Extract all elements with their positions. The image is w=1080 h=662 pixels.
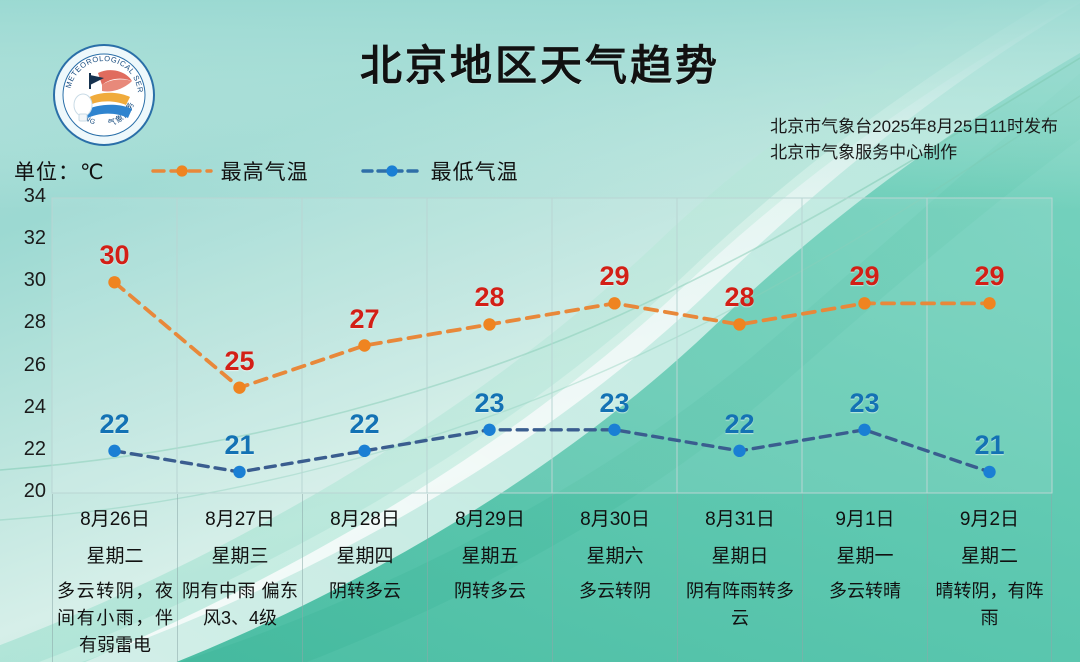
table-weekday-3: 星期五 [428,541,552,568]
table-description-1: 阴有中雨 偏东风3、4级 [182,578,298,632]
forecast-table: 8月26日星期二多云转阴，夜间有小雨，伴有弱雷电8月27日星期三阴有中雨 偏东风… [52,494,1052,662]
legend-swatch-high-icon [151,163,213,179]
table-column-5: 8月31日星期日阴有阵雨转多云 [677,494,802,662]
table-date-2: 8月28日 [303,504,427,531]
table-column-7: 9月2日星期二晴转阴，有阵雨 [927,494,1052,662]
table-date-0: 8月26日 [53,504,177,531]
table-weekday-4: 星期六 [553,541,677,568]
issuer-info: 北京市气象台2025年8月25日11时发布 北京市气象服务中心制作 [770,114,1058,166]
table-weekday-1: 星期三 [178,541,302,568]
table-date-7: 9月2日 [928,504,1051,531]
table-weekday-0: 星期二 [53,541,177,568]
table-column-1: 8月27日星期三阴有中雨 偏东风3、4级 [177,494,302,662]
table-column-6: 9月1日星期一多云转晴 [802,494,927,662]
table-column-4: 8月30日星期六多云转阴 [552,494,677,662]
legend-swatch-low-icon [361,163,423,179]
table-weekday-6: 星期一 [803,541,927,568]
table-weekday-7: 星期二 [928,541,1051,568]
issuer-line-1: 北京市气象台2025年8月25日11时发布 [770,114,1058,140]
legend-label-high: 最高气温 [221,156,309,186]
table-description-6: 多云转晴 [807,578,923,605]
table-description-7: 晴转阴，有阵雨 [932,578,1047,632]
legend-label-low: 最低气温 [431,156,519,186]
table-description-5: 阴有阵雨转多云 [682,578,798,632]
legend-item-high: 最高气温 [151,156,309,186]
table-date-3: 8月29日 [428,504,552,531]
table-description-3: 阴转多云 [432,578,548,605]
table-date-4: 8月30日 [553,504,677,531]
table-date-5: 8月31日 [678,504,802,531]
unit-and-legend-row: 单位：℃ 最高气温 最低气温 [14,156,571,186]
table-description-2: 阴转多云 [307,578,423,605]
unit-label: 单位：℃ [14,156,105,186]
weather-trend-poster: METEOROLOGICAL SERVICE BEIJING 气象服务 北京地区… [0,0,1080,662]
table-description-0: 多云转阴，夜间有小雨，伴有弱雷电 [57,578,173,659]
legend-item-low: 最低气温 [361,156,519,186]
issuer-line-2: 北京市气象服务中心制作 [770,140,1058,166]
table-column-2: 8月28日星期四阴转多云 [302,494,427,662]
table-column-0: 8月26日星期二多云转阴，夜间有小雨，伴有弱雷电 [52,494,177,662]
table-description-4: 多云转阴 [557,578,673,605]
table-date-6: 9月1日 [803,504,927,531]
page-title: 北京地区天气趋势 [0,32,1080,93]
table-weekday-2: 星期四 [303,541,427,568]
table-column-3: 8月29日星期五阴转多云 [427,494,552,662]
table-date-1: 8月27日 [178,504,302,531]
table-weekday-5: 星期日 [678,541,802,568]
